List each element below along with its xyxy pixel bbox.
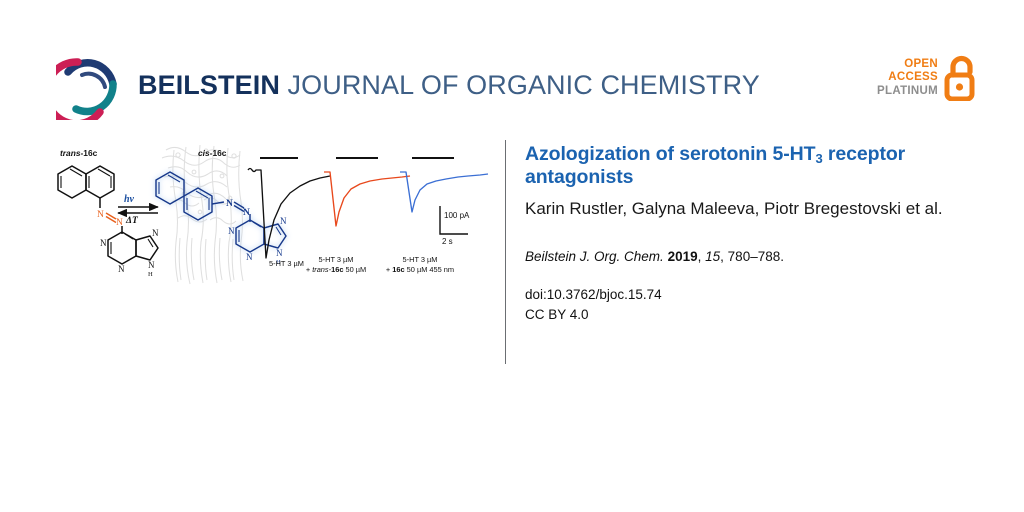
svg-text:N: N: [280, 216, 287, 226]
journal-wordmark: BEILSTEIN JOURNAL OF ORGANIC CHEMISTRY: [138, 72, 760, 99]
oa-line-platinum: PLATINUM: [877, 85, 938, 99]
receptor-structure-icon: [162, 145, 243, 284]
svg-text:N: N: [118, 264, 125, 274]
control-trace: 5-HT 3 µM: [248, 158, 330, 268]
cis-trace-label-line2: + 16c 50 µM 455 nm: [386, 265, 454, 274]
page-header: BEILSTEIN JOURNAL OF ORGANIC CHEMISTRY O…: [0, 0, 1024, 140]
cis-16c-trace: 5-HT 3 µM + 16c 50 µM 455 nm: [386, 158, 488, 274]
svg-text:N: N: [97, 210, 104, 220]
trans-16c-molecule: [58, 166, 114, 208]
svg-text:N: N: [100, 238, 107, 248]
hv-label: hν: [124, 194, 135, 205]
svg-text:N: N: [148, 260, 155, 270]
article-doi-block: doi:10.3762/bjoc.15.74 CC BY 4.0: [525, 285, 977, 326]
citation-volume: 15: [705, 249, 720, 264]
trans-16c-trace: 5-HT 3 µM + trans-16c 50 µM: [306, 158, 410, 274]
delta-t-label: ΔT: [125, 216, 139, 226]
scale-bar-current: 100 pA: [444, 211, 470, 220]
cis-trace-label-line1: 5-HT 3 µM: [403, 255, 438, 264]
open-access-badge: OPEN ACCESS PLATINUM: [877, 55, 980, 101]
article-title-part1: Azologization of serotonin 5-HT: [525, 143, 815, 165]
beilstein-spiral-logo-icon: [56, 50, 124, 120]
oa-line-open: OPEN: [877, 58, 938, 72]
article-doi[interactable]: doi:10.3762/bjoc.15.74: [525, 285, 977, 306]
cis-16c-label: cis-16c: [198, 148, 227, 158]
wordmark-beilstein: BEILSTEIN: [138, 70, 280, 100]
article-title[interactable]: Azologization of serotonin 5-HT3 recepto…: [525, 143, 977, 188]
citation-journal: Beilstein J. Org. Chem.: [525, 249, 664, 264]
wordmark-subtitle: JOURNAL OF ORGANIC CHEMISTRY: [280, 70, 760, 100]
graphical-abstract: trans-16c N N N N N N H hν ΔT: [48, 140, 498, 285]
article-license[interactable]: CC BY 4.0: [525, 305, 977, 326]
citation-pages: 780–788.: [728, 249, 784, 264]
svg-text:H: H: [148, 271, 153, 278]
scale-bar-time: 2 s: [442, 237, 453, 246]
article-info: Azologization of serotonin 5-HT3 recepto…: [525, 143, 977, 326]
article-title-subscript: 3: [815, 151, 822, 166]
svg-text:N: N: [152, 228, 159, 238]
svg-text:N: N: [228, 226, 235, 236]
scale-bar: 100 pA 2 s: [440, 206, 470, 246]
photoswitch-arrows: hν ΔT: [118, 194, 158, 226]
cis-nitrogen-labels: N N N N N N H: [226, 199, 287, 266]
svg-text:N: N: [246, 252, 253, 262]
trans-16c-label: trans-16c: [60, 148, 98, 158]
control-trace-label: 5-HT 3 µM: [269, 259, 304, 268]
trans-trace-label-line1: 5-HT 3 µM: [319, 255, 354, 264]
svg-text:N: N: [226, 199, 233, 209]
article-authors: Karin Rustler, Galyna Maleeva, Piotr Bre…: [525, 197, 977, 220]
oa-line-access: ACCESS: [877, 71, 938, 85]
trans-trace-label-line2: + trans-16c 50 µM: [306, 265, 366, 274]
content-divider: [505, 140, 506, 364]
journal-branding: BEILSTEIN JOURNAL OF ORGANIC CHEMISTRY: [56, 50, 760, 120]
citation-year: 2019: [668, 249, 698, 264]
svg-text:N: N: [276, 248, 283, 258]
open-access-label: OPEN ACCESS PLATINUM: [877, 58, 938, 99]
open-padlock-icon: [944, 55, 980, 101]
svg-text:N: N: [243, 208, 250, 218]
article-citation: Beilstein J. Org. Chem. 2019, 15, 780–78…: [525, 247, 977, 267]
cis-16c-molecule: [156, 172, 286, 252]
